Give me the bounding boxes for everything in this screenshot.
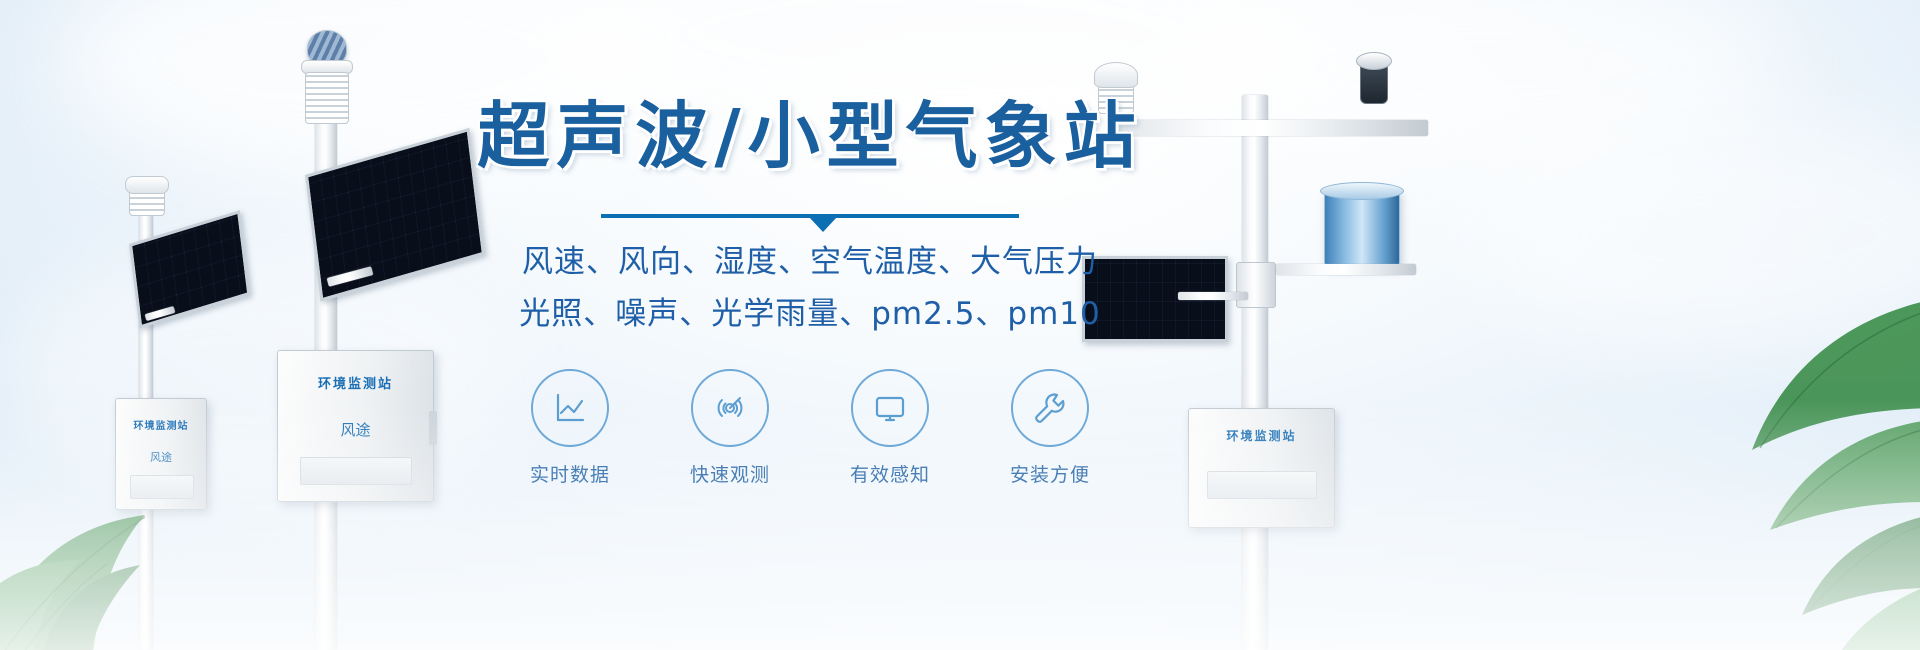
feature-icon-ring <box>1011 369 1089 447</box>
chevron-down-icon <box>809 217 837 232</box>
rain-gauge-rim <box>1320 182 1404 200</box>
feature-item-fast-observation[interactable]: 快速观测 <box>682 369 778 487</box>
feature-icon-ring <box>691 369 769 447</box>
page-title: 超声波/小型气象站 <box>430 100 1190 172</box>
sensor-shelf <box>1276 264 1416 275</box>
feature-label: 快速观测 <box>682 460 778 487</box>
feature-label: 有效感知 <box>842 460 938 487</box>
feature-label: 安装方便 <box>1002 460 1098 487</box>
feature-icon-ring <box>531 369 609 447</box>
monitor-screen-icon <box>871 389 909 427</box>
banner-copy: 超声波/小型气象站 风速、风向、湿度、空气温度、大气压力 光照、噪声、光学雨量、… <box>430 100 1190 487</box>
radiation-shield-sensor <box>305 72 349 124</box>
radar-scan-icon <box>711 389 749 427</box>
feature-item-effective-sensing[interactable]: 有效感知 <box>842 369 938 487</box>
title-divider <box>601 208 1019 226</box>
feature-label: 实时数据 <box>522 460 618 487</box>
wrench-tool-icon <box>1031 389 1069 427</box>
product-banner: 环境监测站 风途 环境监测站 风途 <box>0 0 1920 650</box>
feature-icon-ring <box>851 369 929 447</box>
subtitle-line-2: 光照、噪声、光学雨量、pm2.5、pm10 <box>430 290 1190 340</box>
ultrasonic-wind-sensor <box>1094 62 1138 88</box>
feature-item-easy-install[interactable]: 安装方便 <box>1002 369 1098 487</box>
cabinet-label: 环境监测站 <box>278 373 433 392</box>
mast-collar <box>1236 262 1276 308</box>
sensor-cap <box>125 176 169 194</box>
subtitle-line-1: 风速、风向、湿度、空气温度、大气压力 <box>430 238 1190 288</box>
rain-gauge <box>1324 190 1400 268</box>
sensor-dome <box>1356 52 1392 70</box>
line-chart-icon <box>551 389 589 427</box>
feature-item-realtime-data[interactable]: 实时数据 <box>522 369 618 487</box>
feature-list: 实时数据 快速观测 <box>430 369 1190 487</box>
